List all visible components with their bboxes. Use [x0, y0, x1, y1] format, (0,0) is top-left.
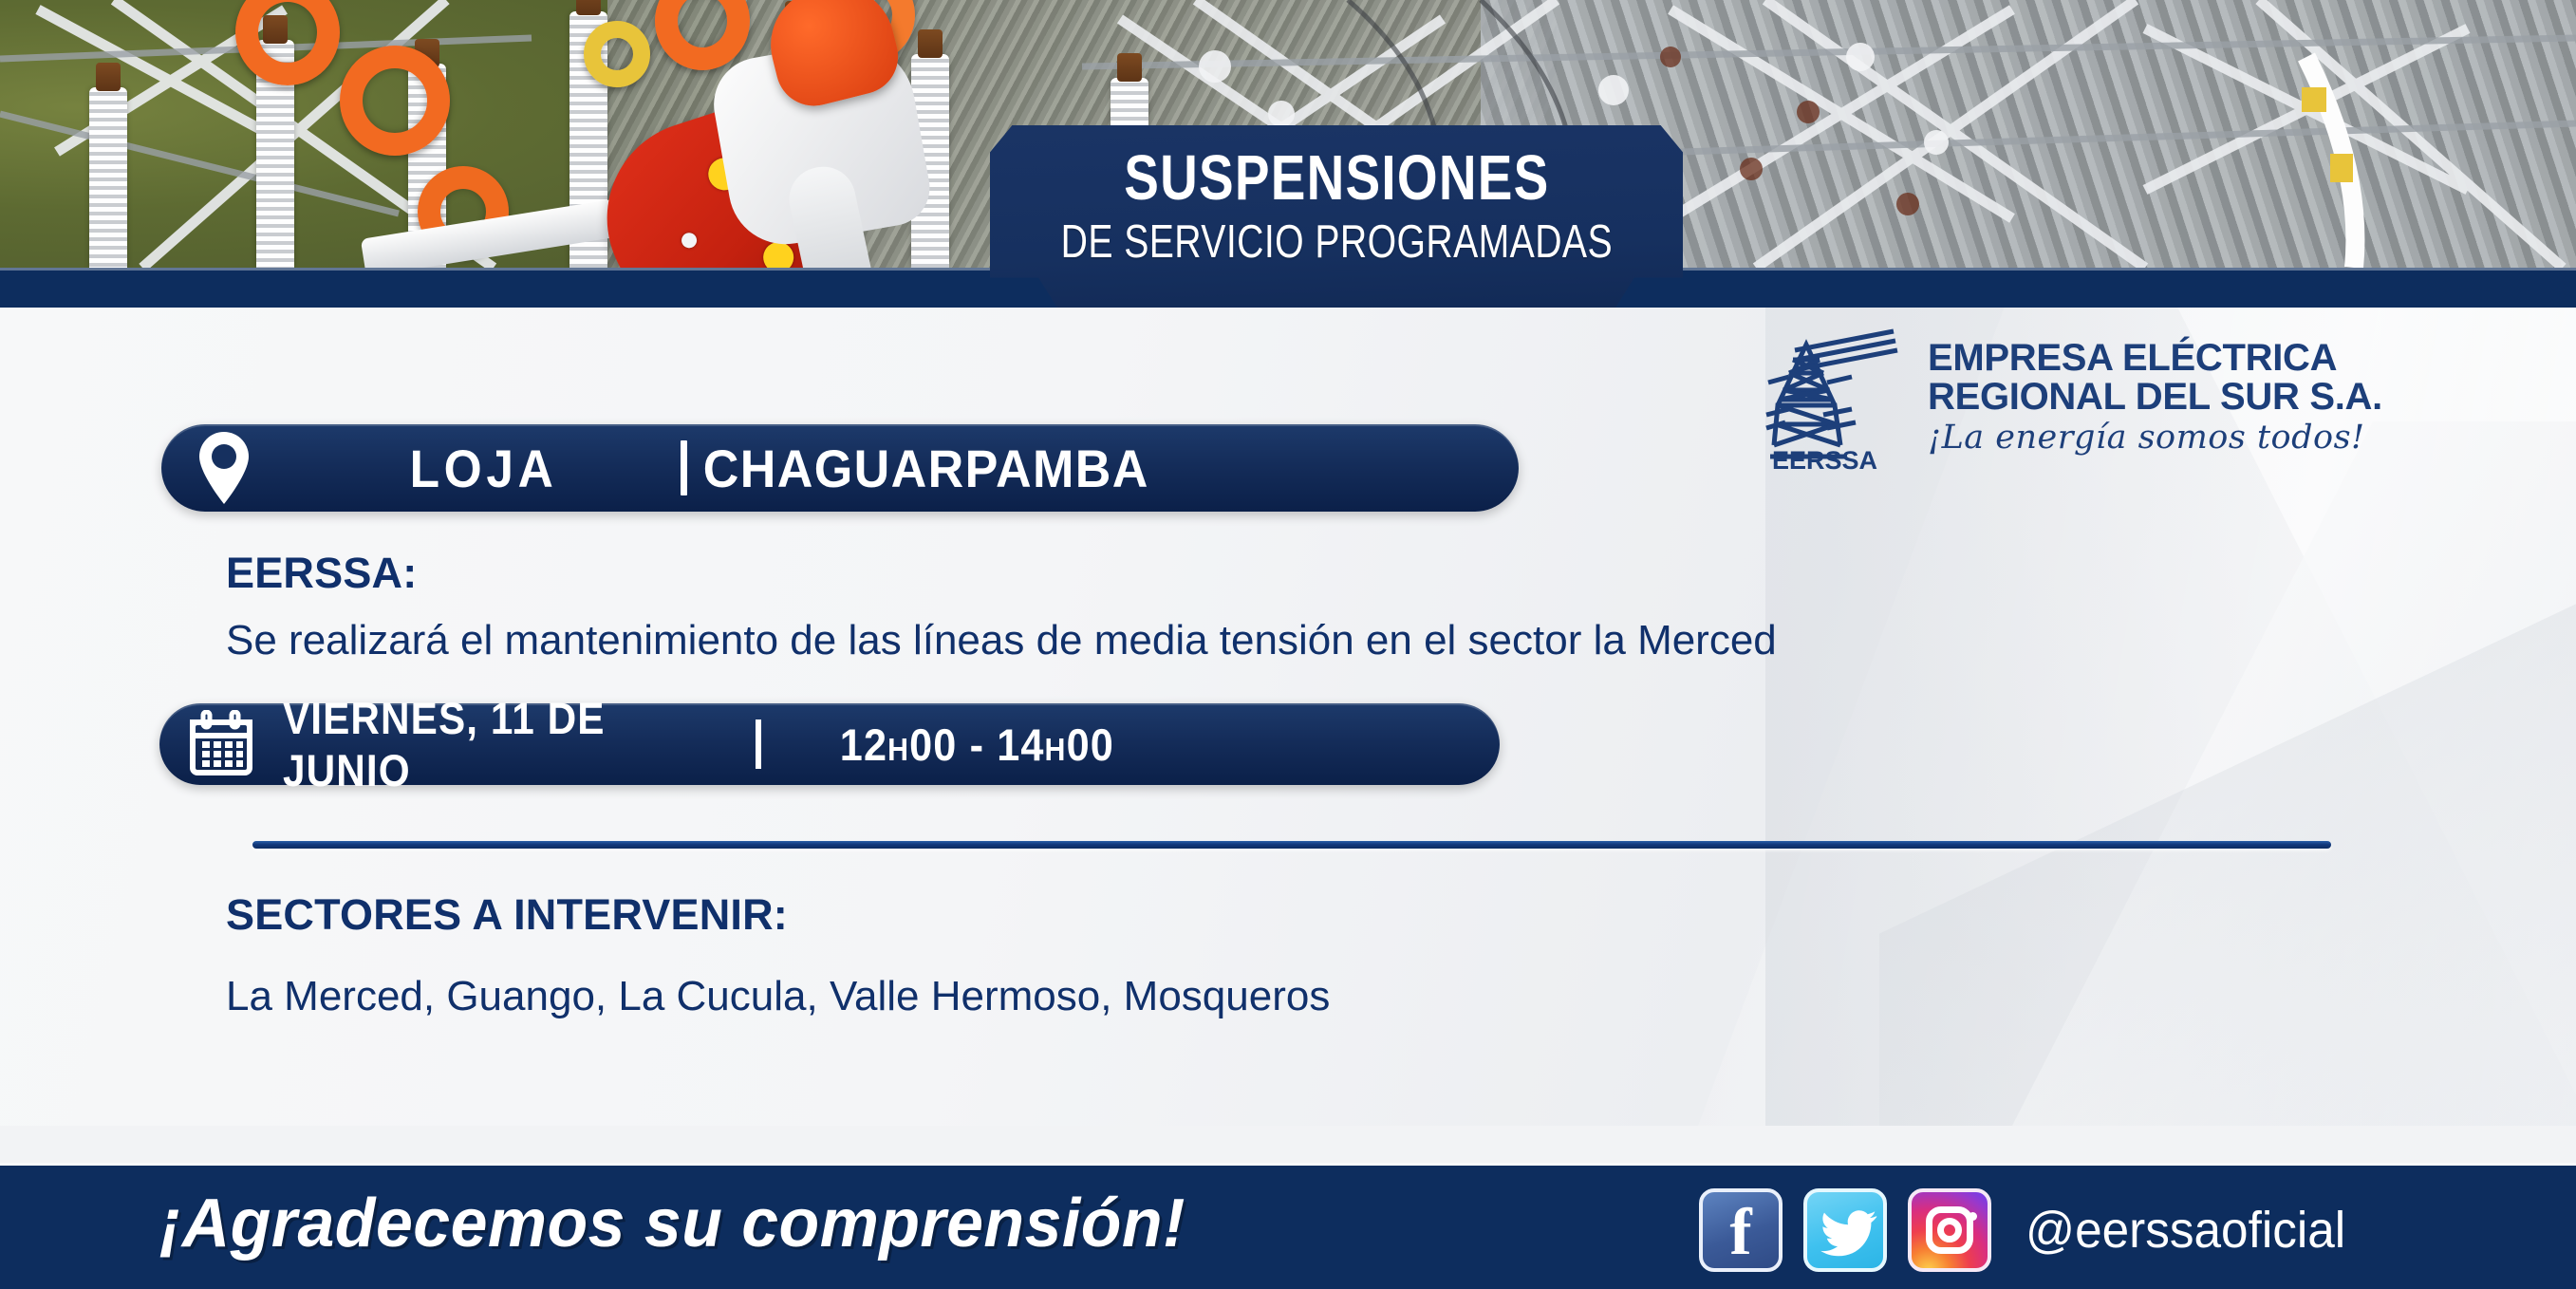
calendar-icon	[159, 710, 283, 778]
transmission-tower-icon: EERSSA	[1761, 324, 1903, 471]
instagram-dot	[1969, 1212, 1977, 1221]
corona-ring	[340, 46, 450, 156]
social-links: f @eerssaoficial	[1699, 1185, 2362, 1276]
logo-name-line2: REGIONAL DEL SUR S.A.	[1928, 378, 2382, 417]
location-pill: LOJA CHAGUARPAMBA	[161, 424, 1519, 512]
location-province: LOJA	[303, 438, 665, 499]
logo-name-line1: EMPRESA ELÉCTRICA	[1928, 339, 2382, 378]
pill-separator	[681, 440, 687, 495]
notice-description: Se realizará el mantenimiento de las lín…	[226, 617, 1777, 664]
schedule-pill: VIERNES, 11 DE JUNIO 12H00 - 14H00	[159, 703, 1500, 785]
warning-ring	[584, 21, 650, 87]
eerssa-logo: EERSSA EMPRESA ELÉCTRICA REGIONAL DEL SU…	[1761, 321, 2387, 473]
map-pin-icon	[161, 431, 287, 505]
suspension-notice-poster: SUSPENSIONES DE SERVICIO PROGRAMADAS	[0, 0, 2576, 1289]
sectors-label: SECTORES A INTERVENIR:	[226, 890, 788, 940]
schedule-date: VIERNES, 11 DE JUNIO	[283, 692, 693, 796]
facebook-icon[interactable]: f	[1699, 1188, 1783, 1272]
instagram-icon[interactable]	[1908, 1188, 1991, 1272]
twitter-icon[interactable]	[1803, 1188, 1887, 1272]
footer-thanks-message: ¡Agradecemos su comprensión!	[159, 1185, 1185, 1262]
instagram-lens	[1937, 1218, 1962, 1242]
schedule-time: 12H00 - 14H00	[761, 719, 1114, 771]
logo-slogan: ¡La energía somos todos!	[1928, 420, 2382, 455]
location-canton: CHAGUARPAMBA	[687, 438, 1149, 499]
notice-label: EERSSA:	[226, 549, 417, 598]
insulator-column	[89, 87, 127, 268]
logo-mark-label: EERSSA	[1772, 446, 1877, 471]
sectors-list: La Merced, Guango, La Cucula, Valle Herm…	[226, 973, 1330, 1020]
section-divider	[252, 841, 2331, 849]
social-handle: @eerssaoficial	[2025, 1201, 2345, 1260]
facebook-glyph: f	[1703, 1196, 1779, 1270]
